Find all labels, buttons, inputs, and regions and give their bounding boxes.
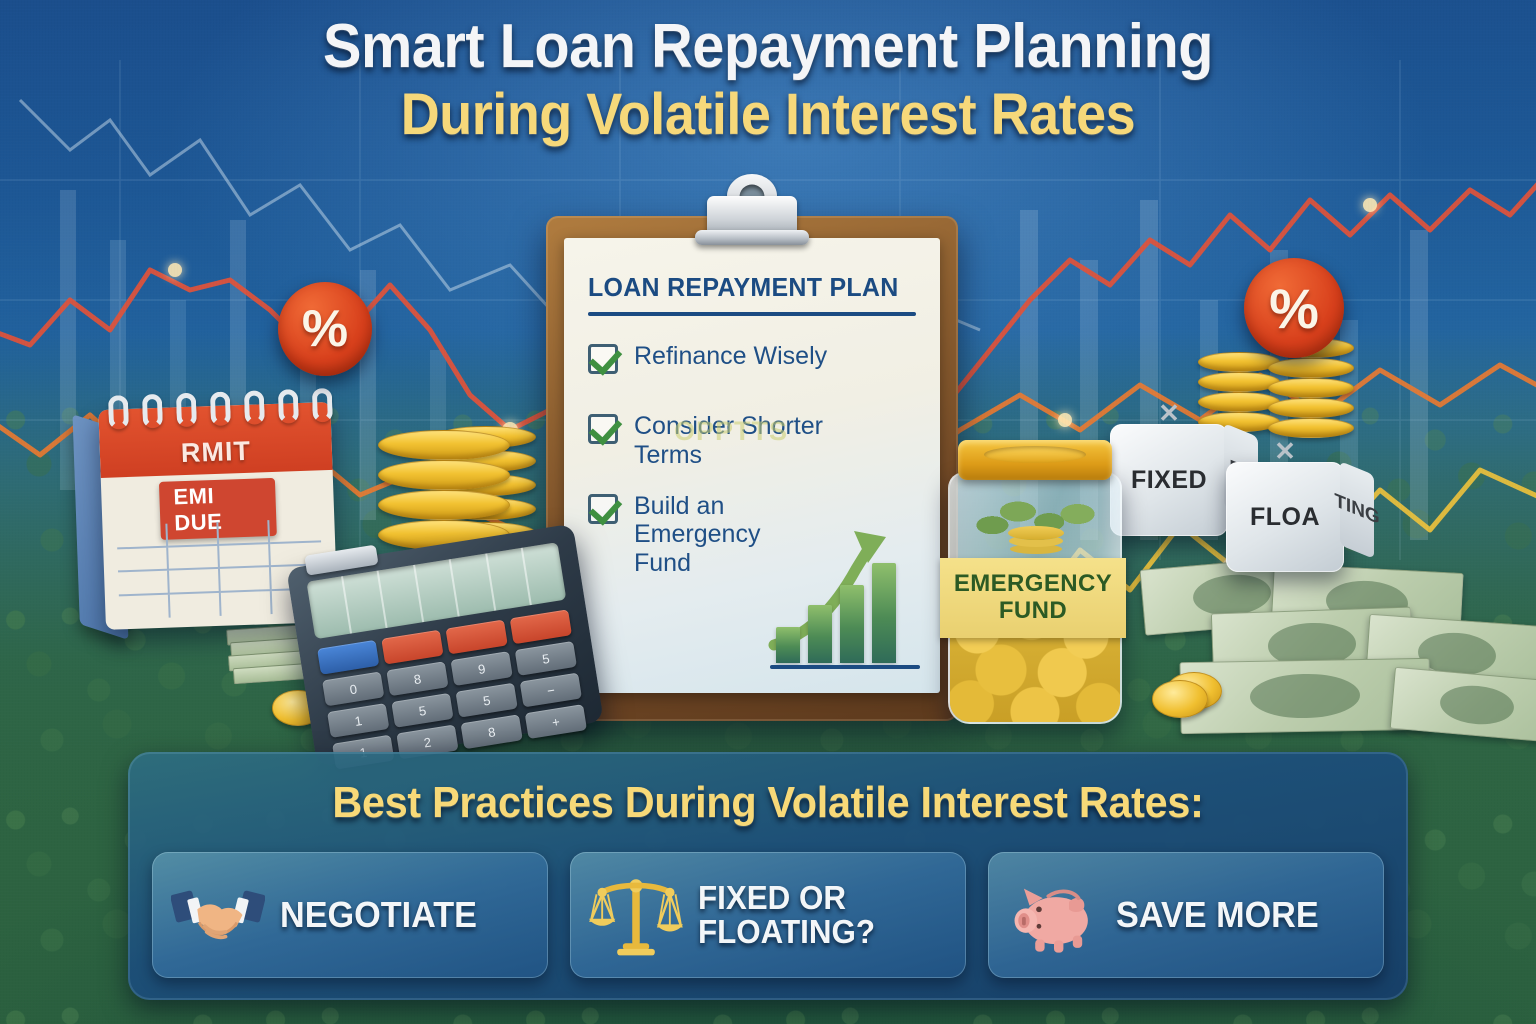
checkbox-checked-icon[interactable] [588, 414, 618, 444]
percent-badge-right: % [1244, 258, 1344, 358]
list-item[interactable]: Refinance Wisely [588, 342, 916, 374]
title-line-2: During Volatile Interest Rates [54, 85, 1482, 146]
piggy-bank-icon [1006, 867, 1102, 963]
clipboard: LOAN REPAYMENT PLAN OPPTTS Refinance Wis… [546, 216, 958, 721]
calculator-key[interactable] [445, 619, 507, 654]
calculator-key[interactable]: − [520, 673, 582, 708]
calendar-cell [168, 545, 220, 570]
clip-bar [695, 230, 809, 245]
calculator[interactable]: 0 8 9 5 1 5 5 − 1 2 8 + [286, 524, 604, 767]
calculator-key[interactable]: 0 [322, 671, 384, 706]
calendar-ring [312, 388, 333, 423]
calculator-key[interactable]: 5 [515, 641, 577, 676]
best-practices-card-list: NEGOTIATE [128, 828, 1408, 978]
coins-near-banknotes [1152, 666, 1242, 716]
calendar-cell [169, 569, 221, 594]
practice-card-negotiate[interactable]: NEGOTIATE [152, 852, 548, 978]
bar [776, 627, 800, 663]
calendar-cell [269, 518, 321, 543]
checkbox-checked-icon[interactable] [588, 344, 618, 374]
calendar-ring [176, 393, 197, 428]
balance-scale-icon [588, 867, 684, 963]
calendar-ring [210, 391, 231, 426]
jar-coin-stack [1008, 526, 1064, 540]
plan-title: LOAN REPAYMENT PLAN [588, 272, 903, 303]
die-floating-side-label: TING [1340, 461, 1374, 559]
bar [872, 563, 896, 663]
calendar-cell [219, 544, 271, 569]
percent-badge-left: % [278, 282, 372, 376]
title-line-1: Smart Loan Repayment Planning [54, 14, 1482, 79]
calendar-month-label: RMIT [180, 436, 251, 469]
plant-sprout-icon [964, 488, 1106, 550]
practice-card-label-line-2: FLOATING? [698, 915, 875, 949]
practice-card-label: FIXED OR FLOATING? [698, 881, 875, 948]
calendar-cell [220, 567, 272, 592]
practice-card-save-more[interactable]: SAVE MORE [988, 852, 1384, 978]
calendar-ring [142, 394, 163, 429]
growth-bar-chart [768, 517, 928, 677]
calendar-cell [117, 547, 169, 572]
calculator-key[interactable]: 5 [455, 683, 517, 718]
jar-label-line-2: FUND [948, 597, 1118, 625]
calculator-key[interactable]: 9 [450, 651, 512, 686]
checkbox-checked-icon[interactable] [588, 494, 618, 524]
chart-baseline [770, 665, 920, 669]
practice-card-label: NEGOTIATE [280, 897, 477, 934]
die-floating-label: FLOA [1250, 503, 1320, 532]
infographic-canvas: Smart Loan Repayment Planning During Vol… [0, 0, 1536, 1024]
calendar-cell [221, 591, 273, 616]
calendar-cell [218, 520, 270, 545]
calendar-cell [118, 571, 170, 596]
calculator-key[interactable] [381, 630, 443, 665]
calculator-key[interactable]: 1 [327, 703, 389, 738]
calendar-ring [108, 395, 129, 430]
watermark-text: OPPTTS [674, 416, 788, 447]
die-fixed-label: FIXED [1131, 466, 1207, 495]
plan-item-label: Refinance Wisely [634, 342, 827, 371]
jar-label-line-1: EMERGENCY [948, 571, 1118, 597]
calendar-cell [170, 592, 222, 617]
die-fixed: ✕ FIXED FL [1110, 424, 1228, 536]
calculator-key[interactable] [317, 640, 379, 675]
calendar-cell [167, 522, 219, 547]
calculator-key[interactable]: 8 [386, 661, 448, 696]
jar-lid [958, 440, 1112, 480]
plan-title-underline [588, 312, 916, 316]
page-title: Smart Loan Repayment Planning During Vol… [0, 14, 1536, 146]
practice-card-label-line-1: FIXED OR [698, 881, 875, 915]
die-floating: ✕ FLOA TING [1226, 462, 1344, 572]
handshake-icon [170, 867, 266, 963]
calculator-key[interactable]: 5 [391, 693, 453, 728]
calendar-cell [119, 594, 171, 619]
jar-label: EMERGENCY FUND [940, 558, 1126, 638]
die-pip-icon: ✕ [1274, 436, 1296, 467]
best-practices-heading: Best Practices During Volatile Interest … [166, 778, 1369, 828]
clipboard-paper: LOAN REPAYMENT PLAN OPPTTS Refinance Wis… [564, 238, 940, 693]
percent-symbol-icon: % [302, 299, 348, 359]
bar-group [776, 553, 896, 663]
calendar-cell [116, 524, 168, 549]
percent-symbol-icon: % [1269, 276, 1319, 341]
practice-card-fixed-or-floating[interactable]: FIXED OR FLOATING? [570, 852, 966, 978]
practice-card-label: SAVE MORE [1116, 897, 1319, 934]
best-practices-panel: Best Practices During Volatile Interest … [128, 752, 1408, 1000]
bar [840, 585, 864, 663]
die-pip-icon: ✕ [1158, 398, 1180, 429]
calculator-key[interactable] [510, 609, 572, 644]
calendar-ring [244, 390, 265, 425]
bar [808, 605, 832, 663]
calendar-ring [278, 389, 299, 424]
emergency-fund-jar: EMERGENCY FUND [944, 440, 1126, 730]
clipboard-clip-icon [699, 174, 805, 252]
